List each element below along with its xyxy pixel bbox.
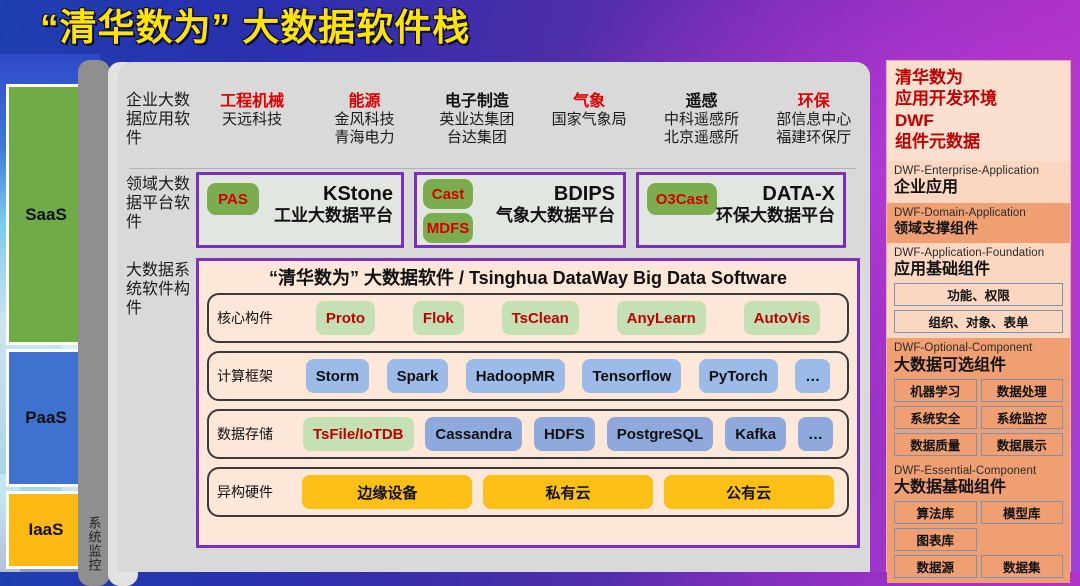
platform-name-en: DATA-X bbox=[716, 183, 835, 206]
dwf-button-data-source[interactable]: 数据源 bbox=[894, 555, 977, 578]
dwf-button-dataset[interactable]: 数据集 bbox=[981, 555, 1064, 578]
chip-more[interactable]: … bbox=[798, 417, 833, 451]
chip-more[interactable]: … bbox=[795, 359, 830, 393]
tag-o3cast[interactable]: O3Cast bbox=[647, 183, 717, 215]
industry-head: 电子制造 bbox=[421, 92, 533, 111]
layer-paas[interactable]: PaaS bbox=[6, 349, 86, 487]
dwf-section-domain-application[interactable]: DWF-Domain-Application 领域支撑组件 bbox=[887, 203, 1070, 243]
dwf-section-code: DWF-Domain-Application bbox=[894, 206, 1063, 220]
main-stack-card: 企业大数据应用软件 工程机械 天远科技 能源 金风科技 青海电力 电子制造 英业… bbox=[118, 62, 870, 572]
dwf-button-data-visualization[interactable]: 数据展示 bbox=[981, 433, 1064, 456]
row-enterprise-applications: 企业大数据应用软件 工程机械 天远科技 能源 金风科技 青海电力 电子制造 英业… bbox=[118, 80, 870, 166]
platform-card-datax[interactable]: O3Cast DATA-X 环保大数据平台 bbox=[636, 172, 846, 248]
strip-compute-frameworks: 计算框架 Storm Spark HadoopMR Tensorflow PyT… bbox=[207, 351, 849, 401]
industry-column: 电子制造 英业达集团 台达集团 bbox=[421, 80, 533, 166]
chip-kafka[interactable]: Kafka bbox=[725, 417, 786, 451]
chip-tsclean[interactable]: TsClean bbox=[502, 301, 579, 335]
industry-column: 能源 金风科技 青海电力 bbox=[308, 80, 420, 166]
dwf-panel-header: 清华数为 应用开发环境 DWF 组件元数据 bbox=[887, 61, 1070, 161]
platform-name: DATA-X 环保大数据平台 bbox=[716, 183, 835, 226]
strip-chips: TsFile/IoTDB Cassandra HDFS PostgreSQL K… bbox=[297, 417, 839, 451]
dwf-header-line: 组件元数据 bbox=[895, 131, 1062, 152]
platform-card-kstone[interactable]: PAS KStone 工业大数据平台 bbox=[196, 172, 404, 248]
dwf-button-machine-learning[interactable]: 机器学习 bbox=[894, 379, 977, 402]
platform-name-cn: 环保大数据平台 bbox=[716, 206, 835, 226]
dwf-section-optional-component[interactable]: DWF-Optional-Component 大数据可选组件 机器学习 数据处理… bbox=[887, 338, 1070, 460]
strip-heterogeneous-hardware: 异构硬件 边缘设备 私有云 公有云 bbox=[207, 467, 849, 517]
tag-pas[interactable]: PAS bbox=[207, 183, 259, 215]
system-software-title: “清华数为” 大数据软件 / Tsinghua DataWay Big Data… bbox=[207, 265, 849, 293]
dwf-button-model-library[interactable]: 模型库 bbox=[981, 501, 1064, 524]
industry-item: 部信息中心 bbox=[758, 111, 870, 129]
vertical-bar-system-monitoring: 系统监控 bbox=[78, 60, 110, 586]
dwf-button-org-object-form[interactable]: 组织、对象、表单 bbox=[894, 310, 1063, 333]
dwf-button-group: 机器学习 数据处理 系统安全 系统监控 数据质量 数据展示 bbox=[894, 379, 1063, 456]
industry-item: 北京遥感所 bbox=[645, 129, 757, 147]
strip-label: 异构硬件 bbox=[217, 482, 297, 502]
chip-postgresql[interactable]: PostgreSQL bbox=[607, 417, 714, 451]
dwf-section-enterprise-application[interactable]: DWF-Enterprise-Application 企业应用 bbox=[887, 161, 1070, 203]
industry-head: 工程机械 bbox=[196, 92, 308, 111]
chip-proto[interactable]: Proto bbox=[316, 301, 375, 335]
platform-name-en: BDIPS bbox=[496, 183, 615, 206]
industry-head: 遥感 bbox=[645, 92, 757, 111]
tag-cast[interactable]: Cast bbox=[423, 179, 473, 209]
dwf-section-essential-component[interactable]: DWF-Essential-Component 大数据基础组件 算法库 模型库 … bbox=[887, 461, 1070, 583]
row2-label: 领域大数据平台软件 bbox=[118, 172, 196, 256]
strip-chips: Proto Flok TsClean AnyLearn AutoVis bbox=[297, 301, 839, 335]
platform-name: BDIPS 气象大数据平台 bbox=[496, 183, 615, 226]
chip-autovis[interactable]: AutoVis bbox=[744, 301, 820, 335]
chip-hadoopmr[interactable]: HadoopMR bbox=[466, 359, 565, 393]
strip-chips: 边缘设备 私有云 公有云 bbox=[297, 475, 839, 509]
industry-item: 台达集团 bbox=[421, 129, 533, 147]
dwf-header-line: 应用开发环境 bbox=[895, 88, 1062, 109]
industry-column: 工程机械 天远科技 bbox=[196, 80, 308, 166]
platform-card-bdips[interactable]: Cast MDFS BDIPS 气象大数据平台 bbox=[414, 172, 626, 248]
industry-column: 遥感 中科遥感所 北京遥感所 bbox=[645, 80, 757, 166]
industry-column: 气象 国家气象局 bbox=[533, 80, 645, 166]
dwf-section-code: DWF-Optional-Component bbox=[894, 341, 1063, 355]
dwf-button-data-quality[interactable]: 数据质量 bbox=[894, 433, 977, 456]
strip-core-components: 核心构件 Proto Flok TsClean AnyLearn AutoVis bbox=[207, 293, 849, 343]
industry-head: 能源 bbox=[308, 92, 420, 111]
industry-item: 福建环保厅 bbox=[758, 129, 870, 147]
industry-head: 环保 bbox=[758, 92, 870, 111]
row-system-software: 大数据系统软件构件 “清华数为” 大数据软件 / Tsinghua DataWa… bbox=[118, 258, 870, 558]
system-software-box: “清华数为” 大数据软件 / Tsinghua DataWay Big Data… bbox=[196, 258, 860, 548]
strip-label: 核心构件 bbox=[217, 308, 297, 328]
chip-pytorch[interactable]: PyTorch bbox=[699, 359, 778, 393]
tag-mdfs[interactable]: MDFS bbox=[423, 213, 473, 243]
dwf-button-data-processing[interactable]: 数据处理 bbox=[981, 379, 1064, 402]
vertical-bar-monitoring-label: 系统监控 bbox=[85, 516, 104, 572]
dwf-section-title: 大数据基础组件 bbox=[894, 478, 1063, 498]
dwf-button-group: 功能、权限 组织、对象、表单 bbox=[894, 283, 1063, 333]
dwf-button-system-security[interactable]: 系统安全 bbox=[894, 406, 977, 429]
platform-name-cn: 工业大数据平台 bbox=[274, 206, 393, 226]
row1-label: 企业大数据应用软件 bbox=[118, 80, 196, 166]
dwf-section-code: DWF-Application-Foundation bbox=[894, 246, 1063, 260]
dwf-header-line: 清华数为 bbox=[895, 67, 1062, 88]
dwf-side-panel: 清华数为 应用开发环境 DWF 组件元数据 DWF-Enterprise-App… bbox=[886, 60, 1071, 572]
dwf-section-title: 应用基础组件 bbox=[894, 260, 1063, 280]
row-divider bbox=[130, 168, 856, 169]
platform-name-en: KStone bbox=[274, 183, 393, 206]
dwf-section-application-foundation[interactable]: DWF-Application-Foundation 应用基础组件 功能、权限 … bbox=[887, 243, 1070, 338]
dwf-button-algorithm-library[interactable]: 算法库 bbox=[894, 501, 977, 524]
dwf-header-line: DWF bbox=[895, 110, 1062, 131]
chip-private-cloud[interactable]: 私有云 bbox=[483, 475, 653, 509]
strip-data-storage: 数据存储 TsFile/IoTDB Cassandra HDFS Postgre… bbox=[207, 409, 849, 459]
chip-spark[interactable]: Spark bbox=[387, 359, 449, 393]
dwf-button-chart-library[interactable]: 图表库 bbox=[894, 528, 977, 551]
industry-item: 青海电力 bbox=[308, 129, 420, 147]
chip-storm[interactable]: Storm bbox=[306, 359, 369, 393]
chip-public-cloud[interactable]: 公有云 bbox=[664, 475, 834, 509]
row3-label: 大数据系统软件构件 bbox=[118, 258, 196, 558]
platform-name-cn: 气象大数据平台 bbox=[496, 206, 615, 226]
chip-tensorflow[interactable]: Tensorflow bbox=[582, 359, 681, 393]
dwf-section-code: DWF-Enterprise-Application bbox=[894, 164, 1063, 178]
industry-item: 国家气象局 bbox=[533, 111, 645, 129]
chip-flok[interactable]: Flok bbox=[413, 301, 464, 335]
strip-label: 计算框架 bbox=[217, 366, 297, 386]
dwf-section-code: DWF-Essential-Component bbox=[894, 464, 1063, 478]
industry-item: 中科遥感所 bbox=[645, 111, 757, 129]
dwf-button-function-permission[interactable]: 功能、权限 bbox=[894, 283, 1063, 306]
dwf-section-title: 企业应用 bbox=[894, 178, 1063, 198]
dwf-section-title: 领域支撑组件 bbox=[894, 220, 1063, 238]
strip-label: 数据存储 bbox=[217, 424, 297, 444]
row-domain-platforms: 领域大数据平台软件 PAS KStone 工业大数据平台 Cast MDFS B… bbox=[118, 172, 870, 256]
dwf-button-system-monitoring[interactable]: 系统监控 bbox=[981, 406, 1064, 429]
industry-item: 英业达集团 bbox=[421, 111, 533, 129]
industry-column: 环保 部信息中心 福建环保厅 bbox=[758, 80, 870, 166]
industry-head: 气象 bbox=[533, 92, 645, 111]
layer-iaas[interactable]: IaaS bbox=[6, 491, 86, 569]
industry-item: 天远科技 bbox=[196, 111, 308, 129]
chip-hdfs[interactable]: HDFS bbox=[534, 417, 595, 451]
dwf-section-title: 大数据可选组件 bbox=[894, 356, 1063, 376]
page-title: “清华数为” 大数据软件栈 bbox=[40, 2, 660, 54]
layer-saas[interactable]: SaaS bbox=[6, 84, 86, 345]
industry-item: 金风科技 bbox=[308, 111, 420, 129]
chip-cassandra[interactable]: Cassandra bbox=[425, 417, 522, 451]
chip-anylearn[interactable]: AnyLearn bbox=[617, 301, 706, 335]
chip-tsfile-iotdb[interactable]: TsFile/IoTDB bbox=[303, 417, 414, 451]
dwf-button-group: 算法库 模型库 图表库 数据源 数据集 bbox=[894, 501, 1063, 578]
chip-edge-device[interactable]: 边缘设备 bbox=[302, 475, 472, 509]
strip-chips: Storm Spark HadoopMR Tensorflow PyTorch … bbox=[297, 359, 839, 393]
platform-name: KStone 工业大数据平台 bbox=[274, 183, 393, 226]
